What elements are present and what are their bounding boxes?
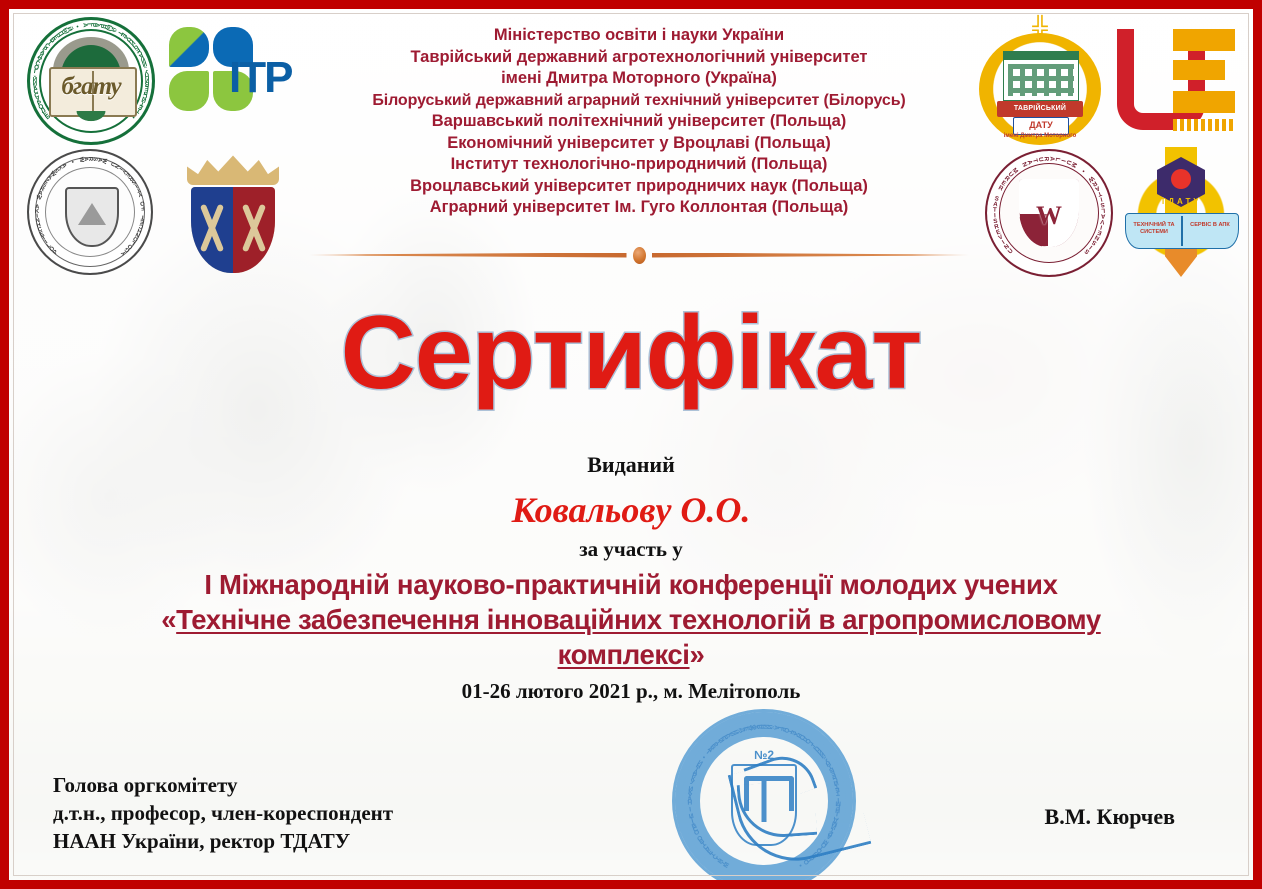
issued-label: Виданий (9, 452, 1253, 478)
faculty-letters: ТДАТУ (1153, 197, 1209, 206)
ue-logo (1115, 23, 1239, 135)
faculty-book-left-text: ТЕХНІЧНИЙ ТА СИСТЕМИ (1130, 222, 1178, 236)
divider-dot-icon (633, 247, 646, 264)
decorative-divider (309, 247, 969, 263)
signer-title-block: Голова оргкомітету д.т.н., професор, чле… (53, 771, 393, 855)
conference-line-3: комплексі» (49, 637, 1213, 672)
quote-close: » (690, 639, 705, 670)
organizer-list: Міністерство освіти і науки України Тавр… (309, 25, 969, 219)
organizer-line: Аграрний університет Ім. Гуго Коллонтая … (309, 197, 969, 219)
bgatu-logo: БЕЛОРУССКИЙ ГОСУДАРСТВЕННЫЙ • АГРАРНЫЙ Т… (27, 17, 155, 145)
bgatu-abbrev: бгату (49, 73, 133, 101)
crowned-shield-logo (169, 149, 297, 277)
official-stamp: МІНІСТЕРСТВО ОСВІТИ І НАУКИ УКРАЇНИ • ТА… (664, 709, 874, 887)
organizer-line: Білоруський державний аграрний технічний… (309, 90, 969, 112)
signer-name: В.М. Кюрчев (1045, 804, 1175, 830)
ue-bars-icon (1173, 119, 1235, 131)
participation-label: за участь у (9, 537, 1253, 562)
conference-quoted-part-2: комплексі (558, 639, 690, 670)
conference-title: І Міжнародній науково-практичній конфере… (49, 567, 1213, 672)
itp-logo-text: ITP (229, 53, 291, 103)
organizer-line: Економічний університет у Вроцлаві (Поль… (309, 133, 969, 155)
faculty-book-right-text: СЕРВІС В АПК (1186, 222, 1234, 229)
signer-title-line: д.т.н., професор, член-кореспондент (53, 799, 393, 827)
page-title: Сертифікат (9, 301, 1253, 405)
tdatu-emblem: ╬ ТАВРІЙСЬКИЙ ДАТУ імені Дмитра Моторног… (977, 17, 1103, 149)
crown-icon (187, 153, 279, 185)
wroclaw-university-logo: UNIVERSITAS RERUM NATURALIUM • WRATISLAV… (985, 149, 1113, 277)
recipient-name: Ковальову О.О. (9, 489, 1253, 531)
wroclaw-monogram: W (1036, 201, 1062, 231)
organizer-line: Міністерство освіти і науки України (309, 25, 969, 47)
organizer-line: імені Дмитра Моторного (Україна) (309, 68, 969, 90)
open-book-icon: ТЕХНІЧНИЙ ТА СИСТЕМИ СЕРВІС В АПК (1125, 213, 1239, 249)
organizer-line: Таврійський державний агротехнологічний … (309, 47, 969, 69)
signer-title-line: Голова оргкомітету (53, 771, 393, 799)
conference-line-2: «Технічне забезпечення інноваційних техн… (49, 602, 1213, 637)
event-date: 01-26 лютого 2021 р., м. Мелітополь (9, 679, 1253, 704)
organizer-line: Варшавський політехнічний університет (П… (309, 111, 969, 133)
warsaw-university-of-technology-logo: POLITECHNIKA WARSZAWSKA • WARSAW UNIVERS… (27, 149, 153, 275)
organizer-line: Вроцлавський університет природничих нау… (309, 176, 969, 198)
tdatu-subtitle: імені Дмитра Моторного (977, 133, 1103, 140)
conference-quoted-part-1: Технічне забезпечення інноваційних техно… (176, 604, 1101, 635)
signer-title-line: НААН України, ректор ТДАТУ (53, 827, 393, 855)
certificate: БЕЛОРУССКИЙ ГОСУДАРСТВЕННЫЙ • АГРАРНЫЙ Т… (0, 0, 1262, 889)
trident-icon: ╬ (1029, 17, 1051, 41)
tdatu-ribbon-text: ТАВРІЙСЬКИЙ (997, 101, 1083, 117)
ue-letter-e (1173, 29, 1235, 113)
quote-open: « (161, 604, 176, 635)
tdatu-faculty-emblem: ТДАТУ ТЕХНІЧНИЙ ТА СИСТЕМИ СЕРВІС В АПК (1125, 147, 1237, 281)
conference-line-1: І Міжнародній науково-практичній конфере… (49, 567, 1213, 602)
organizer-line: Інститут технологічно-природничий (Польщ… (309, 154, 969, 176)
red-dot-icon (1171, 169, 1191, 189)
itp-logo: ITP (169, 27, 309, 135)
